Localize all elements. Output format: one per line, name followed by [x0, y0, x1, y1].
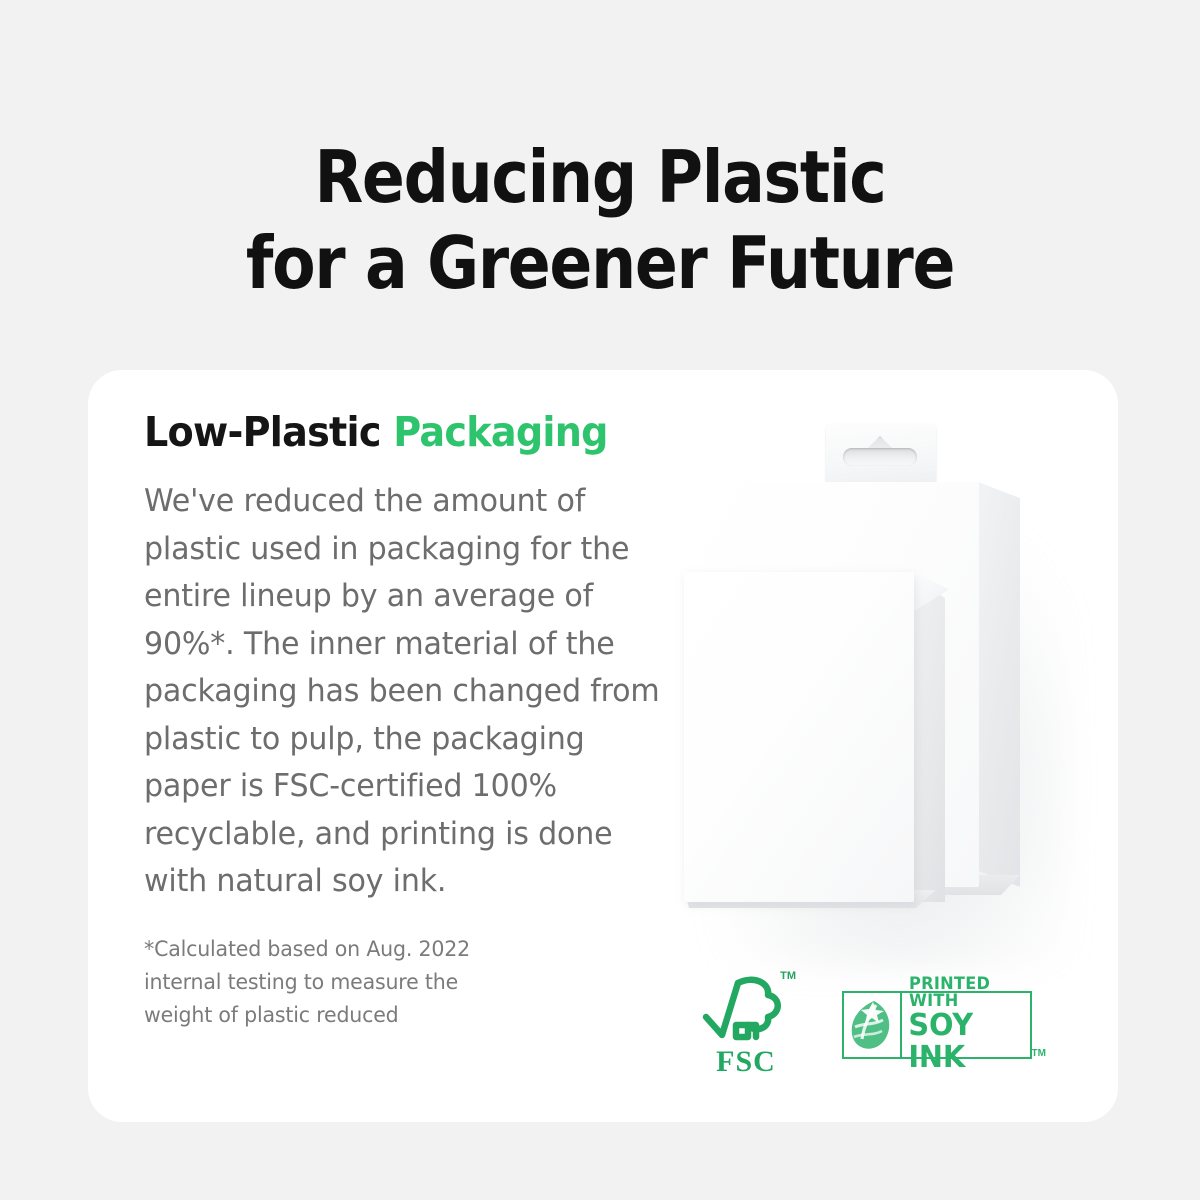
box-rear-side-panel [978, 482, 1020, 887]
card-title-primary: Low-Plastic [144, 408, 393, 456]
footnote-line-2: internal testing to measure the [144, 966, 641, 999]
box-front-face [684, 572, 914, 902]
soy-ink-logo: PRINTED WITH SOY INK TM [842, 991, 1032, 1059]
soy-ink-line-2: SOY INK [908, 1010, 1023, 1073]
footnote-line-3: weight of plastic reduced [144, 999, 641, 1032]
feature-card: Low-Plastic Packaging We've reduced the … [88, 370, 1118, 1122]
soy-ink-trademark-icon: TM [1032, 1049, 1046, 1059]
hang-tab [826, 424, 936, 486]
footnote-line-1: *Calculated based on Aug. 2022 [144, 933, 641, 966]
soy-ink-text: PRINTED WITH SOY INK [902, 993, 1030, 1057]
certification-logos: TM FSC [698, 970, 1032, 1080]
fsc-wordmark: FSC [698, 1047, 794, 1077]
card-title-accent: Packaging [393, 408, 607, 456]
fsc-trademark-icon: TM [780, 971, 796, 982]
headline-line-2: for a Greener Future [72, 220, 1128, 306]
headline-line-1: Reducing Plastic [72, 134, 1128, 220]
product-packaging-image [684, 420, 1104, 940]
card-body-text: We've reduced the amount of plastic used… [144, 478, 679, 906]
fsc-logo: TM FSC [698, 973, 794, 1077]
card-footnote: *Calculated based on Aug. 2022 internal … [144, 933, 641, 1032]
soy-leaf-droplet-icon [844, 993, 902, 1057]
fsc-tree-checkmark-icon [698, 973, 794, 1047]
page-headline: Reducing Plastic for a Greener Future [72, 134, 1128, 306]
card-title: Low-Plastic Packaging [144, 408, 674, 456]
card-copy-column: Low-Plastic Packaging We've reduced the … [144, 408, 714, 1032]
box-front-side-panel [913, 572, 945, 902]
hang-slot-cutout [843, 448, 917, 466]
soy-ink-line-1: PRINTED WITH [909, 976, 1023, 1010]
soy-bean-leaf-glyph [850, 999, 894, 1051]
